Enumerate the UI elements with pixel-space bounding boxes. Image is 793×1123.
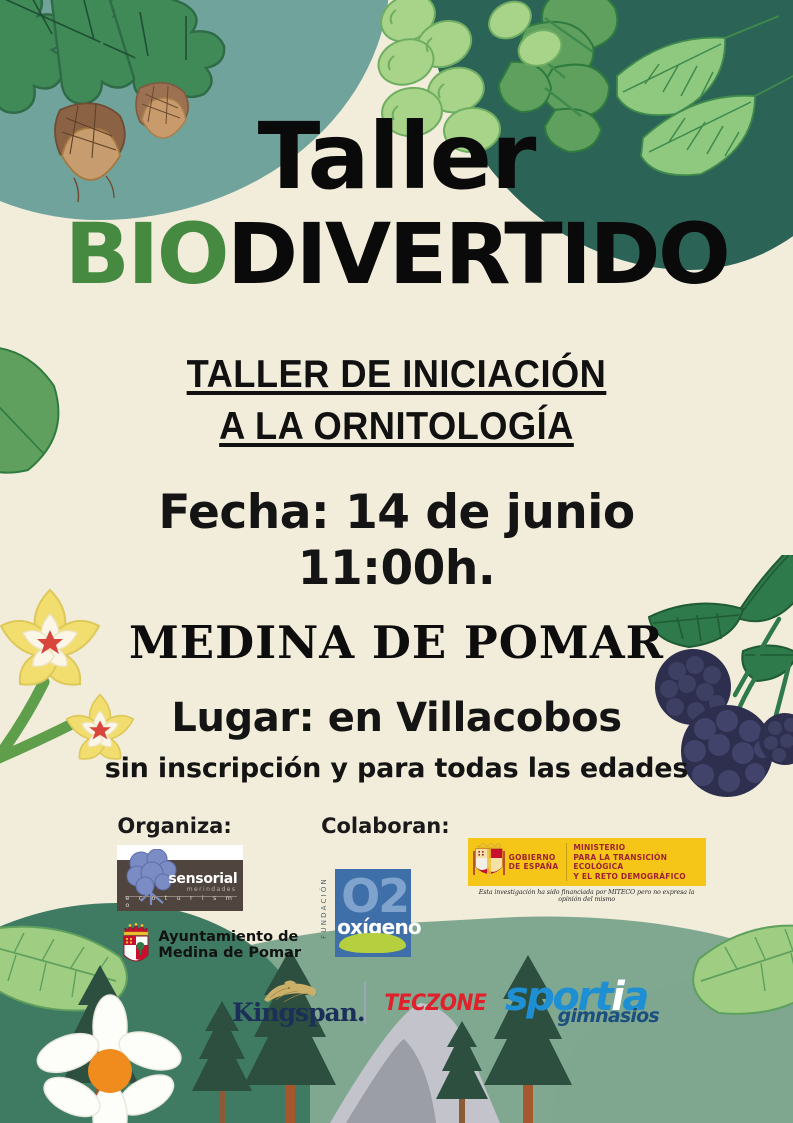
- sensorial-ecoturismo: e c o t u r i s m o: [125, 895, 243, 908]
- logo-sensorial-ecoturismo: sensorial merindades e c o t u r i s m o: [117, 845, 243, 911]
- ministerio-line-3: Y EL RETO DEMOGRÁFICO: [573, 872, 700, 882]
- sensorial-name: sensorial: [168, 872, 237, 886]
- funding-disclaimer: Esta investigación ha sido financiada po…: [468, 889, 706, 903]
- page-subtitle: BIODIVERTIDO: [0, 212, 793, 296]
- event-date: Fecha: 14 de junio: [0, 482, 793, 543]
- forest-landscape-icon: [0, 943, 793, 1123]
- event-time: 11:00h.: [0, 543, 793, 595]
- kingspan-name: Kingspan.: [232, 1000, 365, 1025]
- ministerio-text: MINISTERIO PARA LA TRANSICIÓN ECOLÓGICA …: [573, 843, 700, 883]
- sponsor-logo-row: Kingspan. TECZONE sportia gimnasios: [0, 977, 793, 1029]
- coat-of-arms-icon: [121, 923, 151, 967]
- colaboran-label: Colaboran:: [319, 814, 450, 838]
- sensorial-merindades: merindades: [187, 887, 237, 893]
- logo-kingspan: Kingspan.: [232, 980, 350, 1026]
- gobierno-column: GOBIERNO DE ESPAÑA MINISTERIO PARA LA TR…: [468, 814, 706, 903]
- logo-ayuntamiento-medina-de-pomar: Ayuntamiento de Medina de Pomar: [117, 923, 301, 967]
- title-divertido: DIVERTIDO: [227, 205, 728, 303]
- event-registration-note: sin inscripción y para todas las edades: [0, 753, 793, 784]
- logo-fundacion-oxigeno: FUNDACIÓN O2 oxígeno: [319, 869, 411, 957]
- sponsors-section: Organiza:: [0, 814, 793, 967]
- oxigeno-green-swoosh: [339, 933, 406, 953]
- poster-canvas: Taller BIODIVERTIDO TALLER DE INICIACIÓN…: [0, 0, 793, 1123]
- poster-content: Taller BIODIVERTIDO TALLER DE INICIACIÓN…: [0, 0, 793, 784]
- page-title: Taller: [0, 0, 793, 202]
- event-place: Lugar: en Villacobos: [0, 695, 793, 741]
- title-bio-accent: BIO: [65, 205, 227, 303]
- ayuntamiento-text: Ayuntamiento de Medina de Pomar: [158, 929, 301, 962]
- ministerio-line-2: PARA LA TRANSICIÓN ECOLÓGICA: [573, 853, 700, 873]
- event-city: MEDINA DE POMAR: [0, 616, 793, 669]
- ayuntamiento-line-1: Ayuntamiento de: [158, 929, 301, 946]
- organiza-label: Organiza:: [117, 814, 301, 838]
- colaboran-column: Colaboran: FUNDACIÓN O2 oxígeno: [319, 814, 450, 957]
- oxigeno-fundacion-label: FUNDACIÓN: [321, 877, 328, 939]
- gobierno-line-2: DE ESPAÑA: [509, 862, 559, 872]
- sportia-subtitle: gimnasios: [558, 1007, 659, 1026]
- gobierno-divider: [566, 843, 567, 881]
- logo-gobierno-wrap: GOBIERNO DE ESPAÑA MINISTERIO PARA LA TR…: [468, 838, 706, 903]
- crown: [124, 923, 148, 935]
- oxigeno-o2-mark: O2: [341, 873, 408, 919]
- gobierno-text: GOBIERNO DE ESPAÑA: [509, 853, 559, 873]
- ayuntamiento-line-2: Medina de Pomar: [158, 945, 301, 962]
- logo-gobierno-de-espana: GOBIERNO DE ESPAÑA MINISTERIO PARA LA TR…: [468, 838, 706, 886]
- gobierno-line-1: GOBIERNO: [509, 853, 559, 863]
- spain-coat-of-arms-icon: [473, 843, 505, 881]
- workshop-heading: TALLER DE INICIACIÓN A LA ORNITOLOGÍA: [0, 352, 793, 449]
- workshop-line-1: TALLER DE INICIACIÓN: [28, 352, 765, 397]
- ministerio-line-1: MINISTERIO: [573, 843, 700, 853]
- logo-teczone: TECZONE: [385, 991, 487, 1016]
- workshop-line-2: A LA ORNITOLOGÍA: [28, 404, 765, 449]
- organiza-column: Organiza:: [117, 814, 301, 967]
- logo-sportia: sportia gimnasios: [505, 977, 661, 1029]
